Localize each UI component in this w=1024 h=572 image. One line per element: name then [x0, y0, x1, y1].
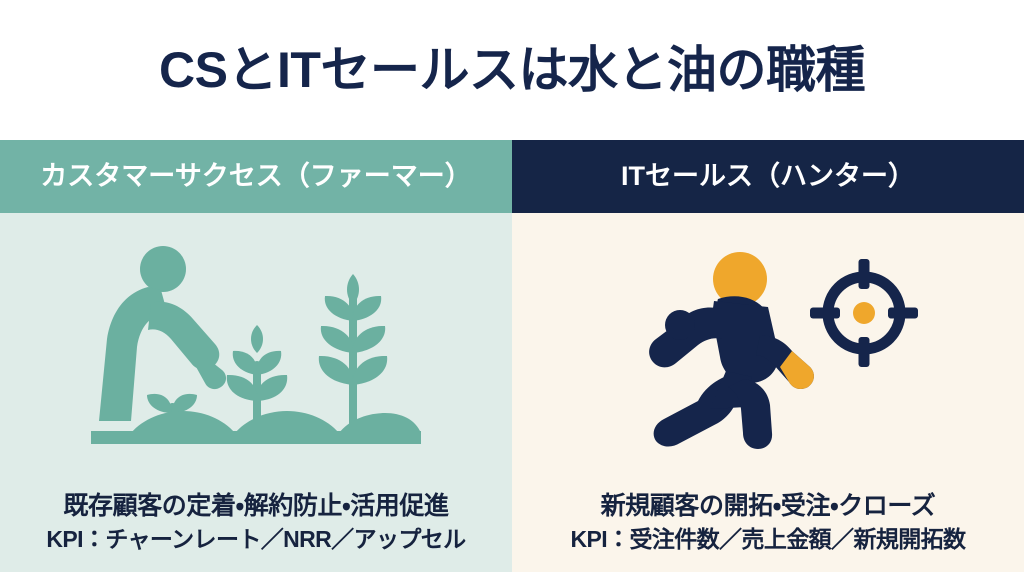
column-header-customer-success: カスタマーサクセス（ファーマー） — [0, 140, 512, 213]
illustration-farmer — [0, 213, 512, 490]
slide-root: CSとITセールスは水と油の職種 カスタマーサクセス（ファーマー） — [0, 0, 1024, 572]
running-hunter-with-target-icon — [618, 243, 918, 449]
column-it-sales: ITセールス（ハンター） — [512, 140, 1024, 572]
caption-it-sales: 新規顧客の開拓・受注・クローズ KPI：受注件数／売上金額／新規開拓数 — [512, 490, 1024, 572]
caption-kpi-text: KPI：受注件数／売上金額／新規開拓数 — [518, 525, 1018, 554]
caption-main-text: 新規顧客の開拓・受注・クローズ — [518, 490, 1018, 522]
column-header-it-sales: ITセールス（ハンター） — [512, 140, 1024, 213]
target-center-dot — [853, 302, 875, 324]
caption-kpi-text: KPI：チャーンレート／NRR／アップセル — [6, 525, 506, 554]
page-title: CSとITセールスは水と油の職種 — [159, 45, 865, 95]
slide-title-bar: CSとITセールスは水と油の職種 — [0, 0, 1024, 140]
illustration-hunter — [512, 213, 1024, 490]
farmer-tending-plants-icon — [91, 243, 421, 449]
comparison-columns: カスタマーサクセス（ファーマー） — [0, 140, 1024, 572]
crosshair-target-icon — [810, 259, 918, 367]
caption-main-text: 既存顧客の定着・解約防止・活用促進 — [6, 490, 506, 522]
column-header-label: ITセールス（ハンター） — [621, 163, 915, 190]
column-customer-success: カスタマーサクセス（ファーマー） — [0, 140, 512, 572]
caption-customer-success: 既存顧客の定着・解約防止・活用促進 KPI：チャーンレート／NRR／アップセル — [0, 490, 512, 572]
column-header-label: カスタマーサクセス（ファーマー） — [40, 163, 471, 190]
